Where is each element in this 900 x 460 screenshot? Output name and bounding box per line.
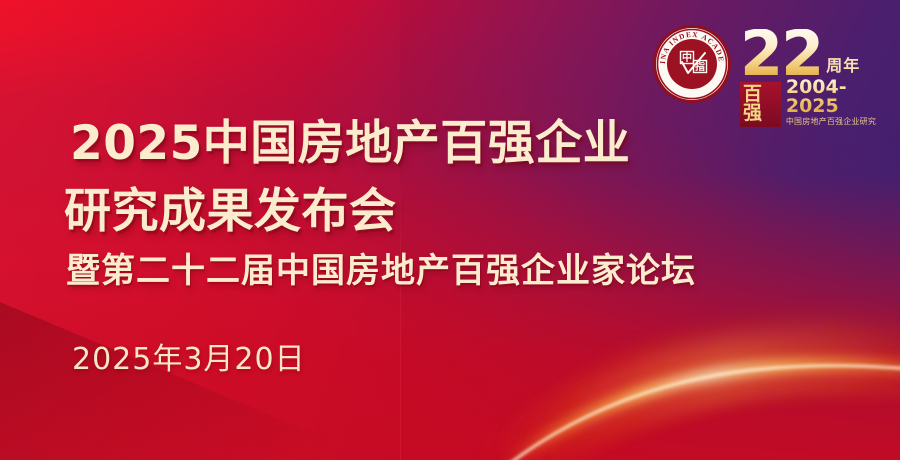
brand-mark-row: CHINA INDEX ACADEMY 研究院 中 指 22 周年 百强 bbox=[652, 24, 890, 108]
event-poster: CHINA INDEX ACADEMY 研究院 中 指 22 周年 百强 bbox=[0, 0, 900, 460]
svg-text:指: 指 bbox=[695, 60, 705, 73]
anniversary-mark: 22 周年 百强 2004-2025 中国房地产百强企业研究 bbox=[740, 24, 890, 108]
anniversary-top-row: 22 周年 bbox=[740, 24, 890, 80]
background-facet-seam bbox=[400, 170, 401, 460]
title-line-1: 2025中国房地产百强企业 bbox=[70, 104, 630, 173]
anniversary-number: 22 bbox=[740, 29, 822, 80]
china-index-academy-logo: CHINA INDEX ACADEMY 研究院 中 指 bbox=[652, 24, 732, 104]
anniversary-unit: 周年 bbox=[826, 52, 860, 76]
anniversary-subtitle: 中国房地产百强企业研究 bbox=[786, 118, 890, 127]
event-date: 2025年3月20日 bbox=[72, 334, 306, 378]
event-subtitle: 暨第二十二届中国房地产百强企业家论坛 bbox=[66, 243, 696, 292]
title-line-2: 研究成果发布会 bbox=[64, 172, 397, 241]
svg-text:中: 中 bbox=[682, 51, 692, 64]
